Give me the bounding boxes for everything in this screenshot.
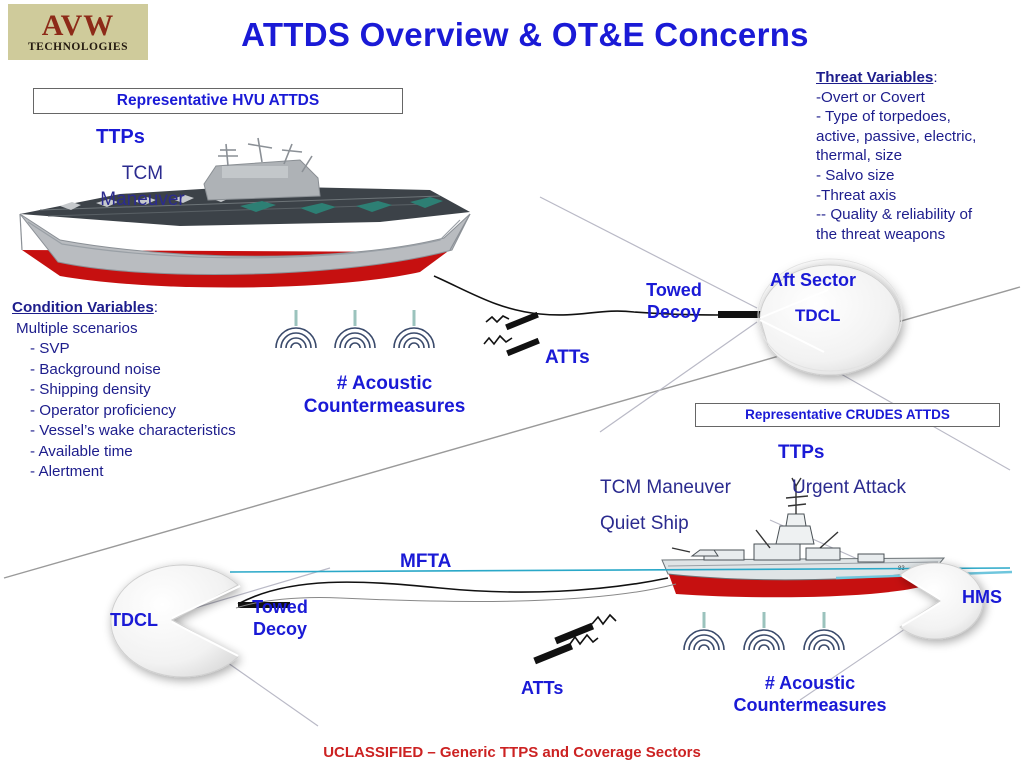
threat-variables-item: -Threat axis <box>816 186 1021 206</box>
threat-variables-item: the threat weapons <box>816 225 1021 245</box>
condition-variables-block: Condition Variables: Multiple scenarios … <box>12 298 302 483</box>
classification-footer: UCLASSIFIED – Generic TTPS and Coverage … <box>0 744 1024 761</box>
page-title: ATTDS Overview & OT&E Concerns <box>175 16 875 54</box>
threat-variables-item: - Type of torpedoes, <box>816 107 1021 127</box>
hvu-acm-label: # Acoustic Countermeasures <box>272 372 497 418</box>
threat-variables-block: Threat Variables: -Overt or Covert - Typ… <box>816 68 1021 244</box>
hvu-towed-decoy-label: Towed Decoy <box>628 279 720 323</box>
logo-wordmark: AVW <box>42 12 114 40</box>
threat-variables-item: - Salvo size <box>816 166 1021 186</box>
threat-variables-item: -Overt or Covert <box>816 88 1021 108</box>
avw-logo: AVW TECHNOLOGIES <box>8 4 148 60</box>
condition-variables-subheading: Multiple scenarios <box>12 319 302 340</box>
condition-variables-heading-text: Condition Variables <box>12 299 154 316</box>
crudes-atts-label: ATTs <box>521 678 563 699</box>
hvu-tcm-line2: Maneuver <box>100 189 185 210</box>
crudes-tcm-maneuver-label: TCM Maneuver <box>600 477 731 499</box>
list-item: - SVP <box>12 339 302 360</box>
acoustic-countermeasure-icon <box>800 610 848 656</box>
hvu-tcm-line1: TCM <box>122 163 163 184</box>
acoustic-countermeasure-icon <box>390 308 438 354</box>
list-item: - Available time <box>12 442 302 463</box>
list-item: - Vessel’s wake characteristics <box>12 421 302 442</box>
hvu-towed-line2: Decoy <box>647 302 701 322</box>
atts-bottom-markers <box>533 615 616 664</box>
atts-top-markers <box>484 312 540 356</box>
hvu-ttps-label: TTPs <box>96 126 145 149</box>
hvu-acm-line1: # Acoustic <box>337 373 432 394</box>
panel-header-hvu: Representative HVU ATTDS <box>33 88 403 114</box>
slide-canvas: 83 <box>0 0 1024 768</box>
crudes-towed-line2: Decoy <box>253 619 307 639</box>
threat-variables-heading-colon: : <box>933 69 937 86</box>
list-item: - Background noise <box>12 360 302 381</box>
hvu-atts-label: ATTs <box>545 347 590 369</box>
logo-tagline: TECHNOLOGIES <box>28 41 128 53</box>
hvu-towed-line1: Towed <box>646 280 702 300</box>
acoustic-countermeasure-icon <box>680 610 728 656</box>
crudes-acm-label: # Acoustic Countermeasures <box>700 672 920 716</box>
threat-variables-item: thermal, size <box>816 146 1021 166</box>
threat-variables-item: -- Quality & reliability of <box>816 205 1021 225</box>
crudes-towed-line1: Towed <box>252 597 308 617</box>
mfta-label: MFTA <box>400 551 451 573</box>
hvu-acm-line2: Countermeasures <box>304 396 466 417</box>
list-item: - Operator proficiency <box>12 401 302 422</box>
condition-variables-heading-colon: : <box>154 299 158 316</box>
crudes-acm-line2: Countermeasures <box>733 695 886 715</box>
hvu-ship-illustration <box>20 138 470 288</box>
panel-header-crudes: Representative CRUDES ATTDS <box>695 403 1000 427</box>
condition-variables-list: - SVP - Background noise - Shipping dens… <box>12 339 302 483</box>
crudes-acm-line1: # Acoustic <box>765 673 855 693</box>
crudes-quiet-ship-label: Quiet Ship <box>600 513 689 535</box>
crudes-urgent-attack-label: Urgent Attack <box>792 477 906 499</box>
list-item: - Alertment <box>12 462 302 483</box>
hvu-tcm-maneuver-label: TCM Maneuver <box>90 161 195 213</box>
crudes-tdcl-label: TDCL <box>110 610 158 631</box>
acoustic-countermeasure-icon <box>331 308 379 354</box>
crudes-towed-decoy-label: Towed Decoy <box>234 596 326 640</box>
acoustic-countermeasure-icon <box>740 610 788 656</box>
condition-variables-heading: Condition Variables: <box>12 298 302 319</box>
hvu-tdcl-label: TDCL <box>795 306 840 326</box>
aft-sector-label: Aft Sector <box>770 270 856 291</box>
list-item: - Shipping density <box>12 380 302 401</box>
threat-variables-heading: Threat Variables: <box>816 68 1021 88</box>
threat-variables-item: active, passive, electric, <box>816 127 1021 147</box>
crudes-ttps-label: TTPs <box>778 442 824 464</box>
threat-variables-heading-text: Threat Variables <box>816 69 933 86</box>
hms-label: HMS <box>962 587 1002 608</box>
